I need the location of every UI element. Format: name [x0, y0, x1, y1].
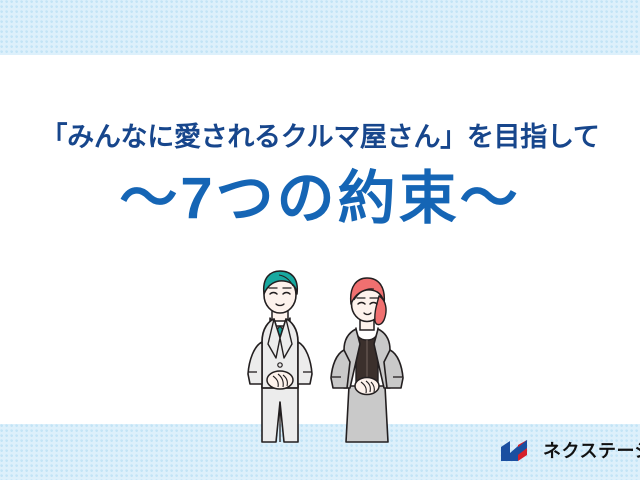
staff-illustration-svg — [232, 266, 422, 446]
top-dot-band — [0, 0, 640, 55]
male-right-sleeve — [298, 342, 312, 384]
brand-logo: ネクステージ — [500, 437, 640, 465]
female-clasped-hands — [355, 378, 379, 395]
female-left-sleeve — [331, 350, 350, 388]
headline-line-1: 「みんなに愛されるクルマ屋さん」を目指して — [0, 118, 640, 156]
headline-line-2: 〜7つの約束〜 — [0, 166, 640, 232]
nextage-n-mark-icon — [500, 439, 536, 463]
slide-canvas: 「みんなに愛されるクルマ屋さん」を目指して 〜7つの約束〜 — [0, 0, 640, 480]
staff-illustration — [232, 266, 422, 446]
brand-logo-text: ネクステージ — [543, 439, 640, 463]
male-clasped-hands — [267, 371, 293, 389]
female-right-sleeve — [384, 350, 403, 388]
male-jacket-button — [278, 363, 282, 367]
male-staff-figure — [248, 271, 312, 442]
male-left-sleeve — [248, 342, 262, 384]
female-staff-figure — [331, 278, 403, 442]
headline-block: 「みんなに愛されるクルマ屋さん」を目指して 〜7つの約束〜 — [0, 118, 640, 232]
